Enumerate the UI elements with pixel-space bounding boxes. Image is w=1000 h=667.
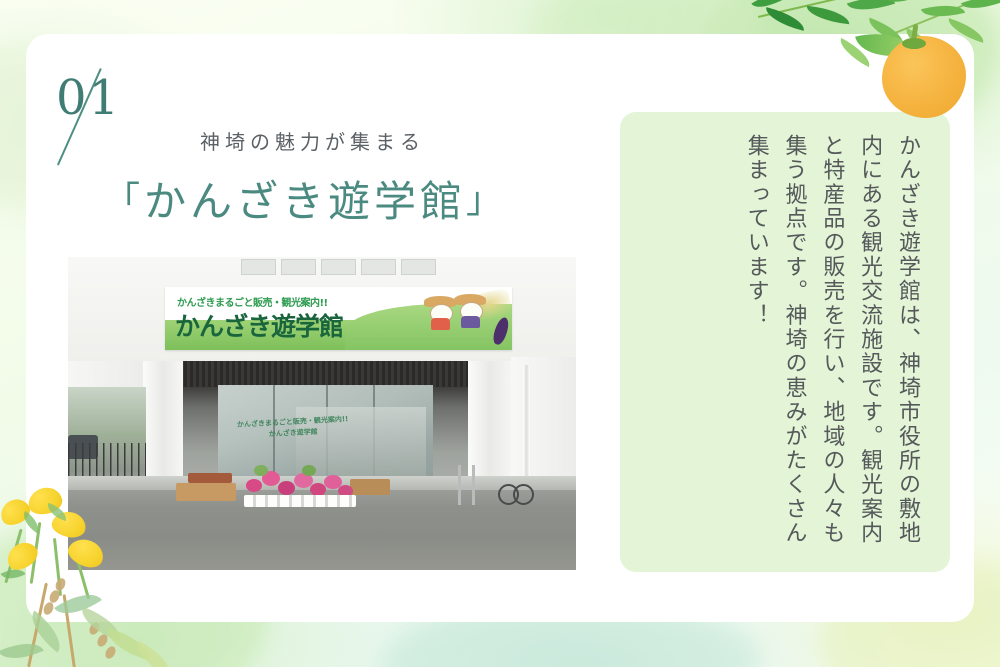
wooden-bench xyxy=(350,479,390,495)
mascot-body xyxy=(431,318,450,330)
flower-pots xyxy=(244,495,356,507)
section-title-text: かんざき遊学館 xyxy=(144,177,466,226)
bicycle xyxy=(498,469,532,505)
open-bracket: 「 xyxy=(104,180,144,221)
section-title: 「かんざき遊学館」 xyxy=(104,168,506,229)
mascot-dog-icon xyxy=(427,296,453,330)
facade-vent xyxy=(401,259,436,275)
description-box: かんざき遊学館は、神埼市役所の敷地内にある観光交流施設です。観光案内と特産品の販… xyxy=(620,112,950,572)
mascot-cat-icon xyxy=(457,294,483,328)
planter-box xyxy=(188,473,232,483)
interior-sign-main-text: かんざき遊学館 xyxy=(269,428,318,439)
facade-vent xyxy=(281,259,316,275)
hand-cart xyxy=(456,465,486,505)
sign-main-text: かんざき遊学館 xyxy=(175,307,343,343)
poster-page: 01 神埼の魅力が集まる 「かんざき遊学館」 かんざきまるごと販売・観光案内!!… xyxy=(0,0,1000,667)
wooden-bench xyxy=(176,483,236,501)
close-bracket: 」 xyxy=(466,180,506,221)
mascot-body xyxy=(461,316,480,328)
facade-vent xyxy=(361,259,396,275)
building-signboard: かんざきまるごと販売・観光案内!! かんざき遊学館 xyxy=(165,287,512,350)
facility-photo: かんざきまるごと販売・観光案内!! かんざき遊学館 かんざきまるごと xyxy=(68,257,576,570)
facade-vent xyxy=(241,259,276,275)
entrance-canopy xyxy=(181,361,471,387)
section-subtitle: 神埼の魅力が集まる xyxy=(200,126,425,155)
facade-vent xyxy=(321,259,356,275)
description-text: かんざき遊学館は、神埼市役所の敷地内にある観光交流施設です。観光案内と特産品の販… xyxy=(737,134,926,546)
